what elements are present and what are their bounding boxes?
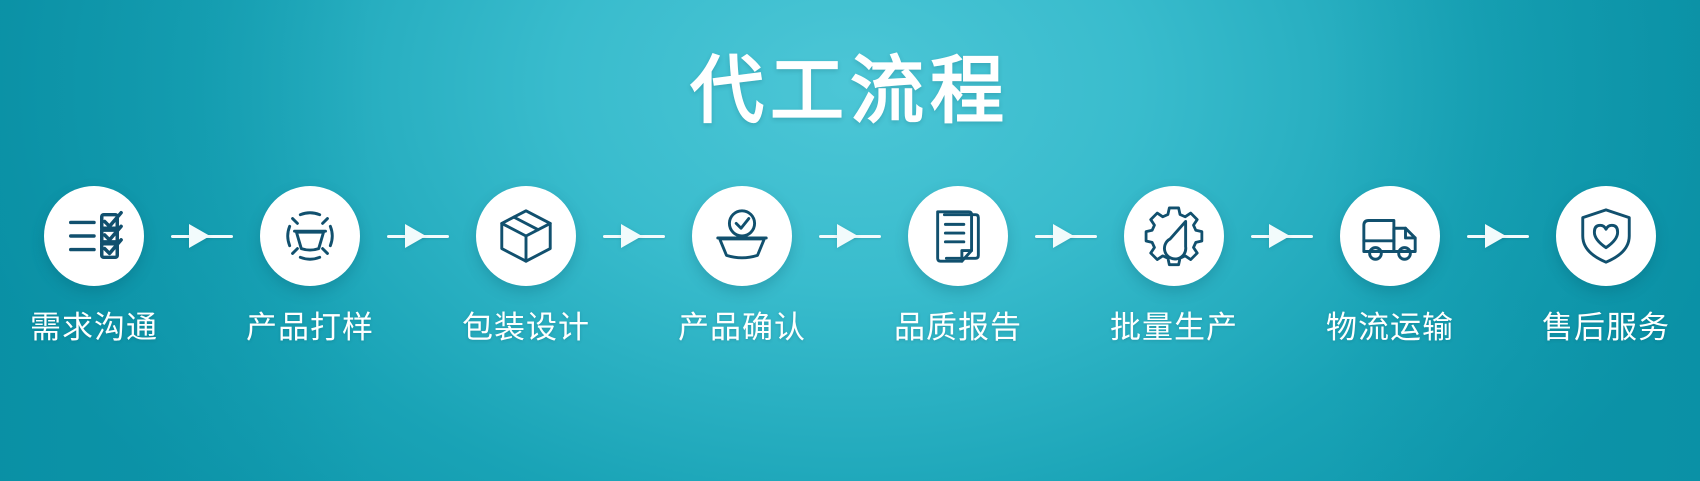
step-label: 产品确认: [678, 312, 806, 343]
arrow-right-icon: [1269, 224, 1290, 248]
step-label: 批量生产: [1110, 312, 1238, 343]
flow-connector-5: [1035, 186, 1097, 286]
step-label: 品质报告: [894, 312, 1022, 343]
flow-connector-4: [819, 186, 881, 286]
page-title: 代工流程: [0, 54, 1700, 128]
checklist-icon: [63, 205, 125, 267]
package-box-icon: [495, 205, 557, 267]
process-step-6[interactable]: 批量生产: [1097, 186, 1251, 343]
process-step-4[interactable]: 产品确认: [665, 186, 819, 343]
step-icon-bubble[interactable]: [908, 186, 1008, 286]
flow-connector-2: [387, 186, 449, 286]
arrow-right-icon: [837, 224, 858, 248]
step-icon-bubble[interactable]: [1124, 186, 1224, 286]
flow-connector-1: [171, 186, 233, 286]
arrow-right-icon: [621, 224, 642, 248]
arrow-right-icon: [189, 224, 210, 248]
step-label: 售后服务: [1542, 312, 1670, 343]
process-flow-banner: 代工流程 需求沟: [0, 0, 1700, 481]
process-step-list: 需求沟通: [0, 186, 1700, 343]
step-icon-bubble[interactable]: [692, 186, 792, 286]
flow-connector-7: [1467, 186, 1529, 286]
process-step-1[interactable]: 需求沟通: [17, 186, 171, 343]
flow-connector-6: [1251, 186, 1313, 286]
step-icon-bubble[interactable]: [476, 186, 576, 286]
step-icon-bubble[interactable]: [260, 186, 360, 286]
step-icon-bubble[interactable]: [1556, 186, 1656, 286]
process-step-2[interactable]: 产品打样: [233, 186, 387, 343]
arrow-right-icon: [405, 224, 426, 248]
flow-connector-3: [603, 186, 665, 286]
arrow-right-icon: [1053, 224, 1074, 248]
step-icon-bubble[interactable]: [44, 186, 144, 286]
step-label: 包装设计: [462, 312, 590, 343]
arrow-right-icon: [1485, 224, 1506, 248]
process-step-3[interactable]: 包装设计: [449, 186, 603, 343]
gear-droplet-icon: [1143, 205, 1205, 267]
process-step-8[interactable]: 售后服务: [1529, 186, 1683, 343]
step-label: 需求沟通: [30, 312, 158, 343]
process-step-5[interactable]: 品质报告: [881, 186, 1035, 343]
sample-bowl-icon: [279, 205, 341, 267]
step-label: 物流运输: [1326, 312, 1454, 343]
step-icon-bubble[interactable]: [1340, 186, 1440, 286]
bowl-check-icon: [711, 205, 773, 267]
shield-heart-icon: [1575, 205, 1637, 267]
process-step-7[interactable]: 物流运输: [1313, 186, 1467, 343]
step-label: 产品打样: [246, 312, 374, 343]
document-report-icon: [927, 205, 989, 267]
delivery-truck-icon: [1359, 205, 1421, 267]
